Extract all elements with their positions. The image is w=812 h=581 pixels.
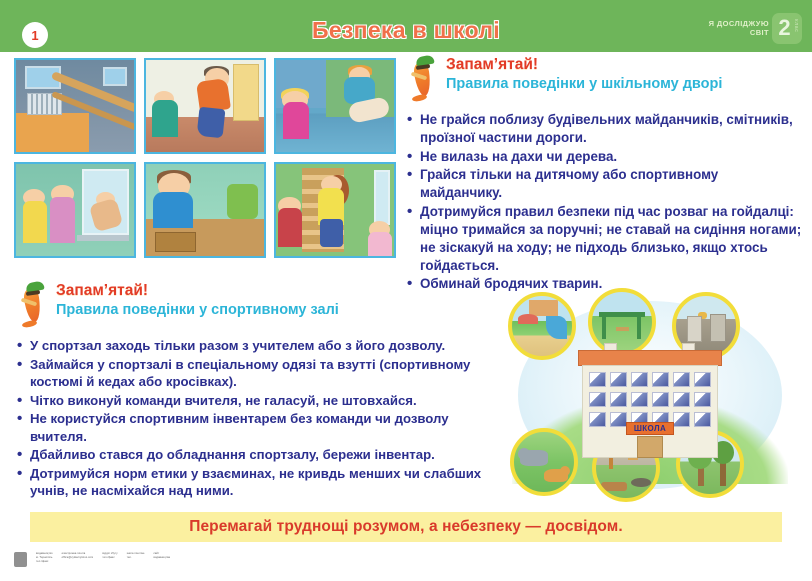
school-sign: ШКОЛА	[626, 422, 674, 435]
illustration-children-at-open-window	[14, 162, 136, 258]
series-line-1: Я ДОСЛІДЖУЮ	[709, 19, 769, 28]
carrot-mascot-icon	[406, 54, 440, 104]
page-header: 1 Безпека в школі Я ДОСЛІДЖУЮ СВІТ 2 кла…	[0, 0, 812, 52]
list-item: Чітко виконуй команди вчителя, не галасу…	[14, 392, 504, 410]
list-item: Займайся у спортзалі в спеціальному одяз…	[14, 356, 504, 391]
imprint-column: відділ збуту тел./факс	[102, 552, 117, 560]
memo-school-yard: Запам’ятай! Правила поведінки у шкільном…	[404, 56, 804, 294]
poster-page: 1 Безпека в школі Я ДОСЛІДЖУЮ СВІТ 2 кла…	[0, 0, 812, 581]
memo-sports-hall-subtitle: Правила поведінки у спортивному залі	[56, 301, 504, 319]
list-item: Дотримуйся норм етики у взаєминах, не кр…	[14, 465, 504, 500]
illustration-boy-running-corridor	[144, 58, 266, 154]
imprint-column: видавництво м. Тернопіль тел./факс	[36, 552, 53, 564]
imprint-column: книга поштою тел.	[127, 552, 145, 560]
swings-vignette	[588, 288, 656, 356]
list-item: Дотримуйся правил безпеки під час розваг…	[404, 203, 804, 274]
memo-sports-hall-title: Запам’ятай!	[56, 282, 504, 299]
grade-label: клас	[793, 19, 799, 32]
memo-sports-hall: Запам’ятай! Правила поведінки у спортивн…	[14, 282, 504, 501]
memo-sports-hall-header: Запам’ятай! Правила поведінки у спортивн…	[14, 282, 504, 332]
illustration-boy-falling	[274, 58, 396, 154]
grade-badge: 2 клас	[772, 13, 802, 44]
publisher-imprint: видавництво м. Тернопіль тел./факс елект…	[0, 548, 812, 581]
list-item: Не користуйся спортивним інвентарем без …	[14, 410, 504, 445]
memo-sports-hall-rules: У спортзал заходь тільки разом з учителе…	[14, 337, 504, 500]
imprint-inner: видавництво м. Тернопіль тел./факс елект…	[14, 552, 170, 567]
stray-dogs-vignette	[510, 428, 578, 496]
school-building: ШКОЛА	[582, 350, 718, 458]
playground-vignette	[508, 292, 576, 360]
school-building-scene: ШКОЛА	[500, 288, 800, 506]
imprint-column: електронна пошта office@vydavnytstvo.com	[62, 552, 94, 560]
grade-number: 2	[778, 17, 790, 39]
memo-school-yard-subtitle: Правила поведінки у шкільному дворі	[446, 75, 804, 93]
illustration-grid	[14, 58, 396, 258]
illustration-stairway-railing	[14, 58, 136, 154]
list-item: У спортзал заходь тільки разом з учителе…	[14, 337, 504, 355]
series-name: Я ДОСЛІДЖУЮ СВІТ	[709, 19, 769, 38]
memo-school-yard-title: Запам’ятай!	[446, 56, 804, 73]
series-mark: Я ДОСЛІДЖУЮ СВІТ 2 клас	[709, 12, 802, 44]
list-item: Дбайливо стався до обладнання спортзалу,…	[14, 446, 504, 464]
school-entrance-door	[637, 436, 663, 458]
illustration-boy-at-workbench	[144, 162, 266, 258]
imprint-column: сайт видавництва	[153, 552, 170, 560]
carrot-mascot-icon	[16, 280, 50, 330]
list-item: Не вилазь на дахи чи дерева.	[404, 148, 804, 166]
motto-text: Перемагай труднощі розумом, а небезпеку …	[189, 518, 623, 536]
publisher-logo-icon	[14, 552, 27, 567]
list-item: Грайся тільки на дитячому або спортивном…	[404, 166, 804, 202]
memo-school-yard-header: Запам’ятай! Правила поведінки у шкільном…	[404, 56, 804, 106]
illustration-girl-on-wall-bars	[274, 162, 396, 258]
motto-banner: Перемагай труднощі розумом, а небезпеку …	[30, 512, 782, 542]
memo-school-yard-rules: Не грайся поблизу будівельних майданчикі…	[404, 111, 804, 293]
series-line-2: СВІТ	[709, 28, 769, 37]
page-title: Безпека в школі	[0, 17, 812, 44]
school-windows	[589, 372, 711, 427]
list-item: Не грайся поблизу будівельних майданчикі…	[404, 111, 804, 147]
